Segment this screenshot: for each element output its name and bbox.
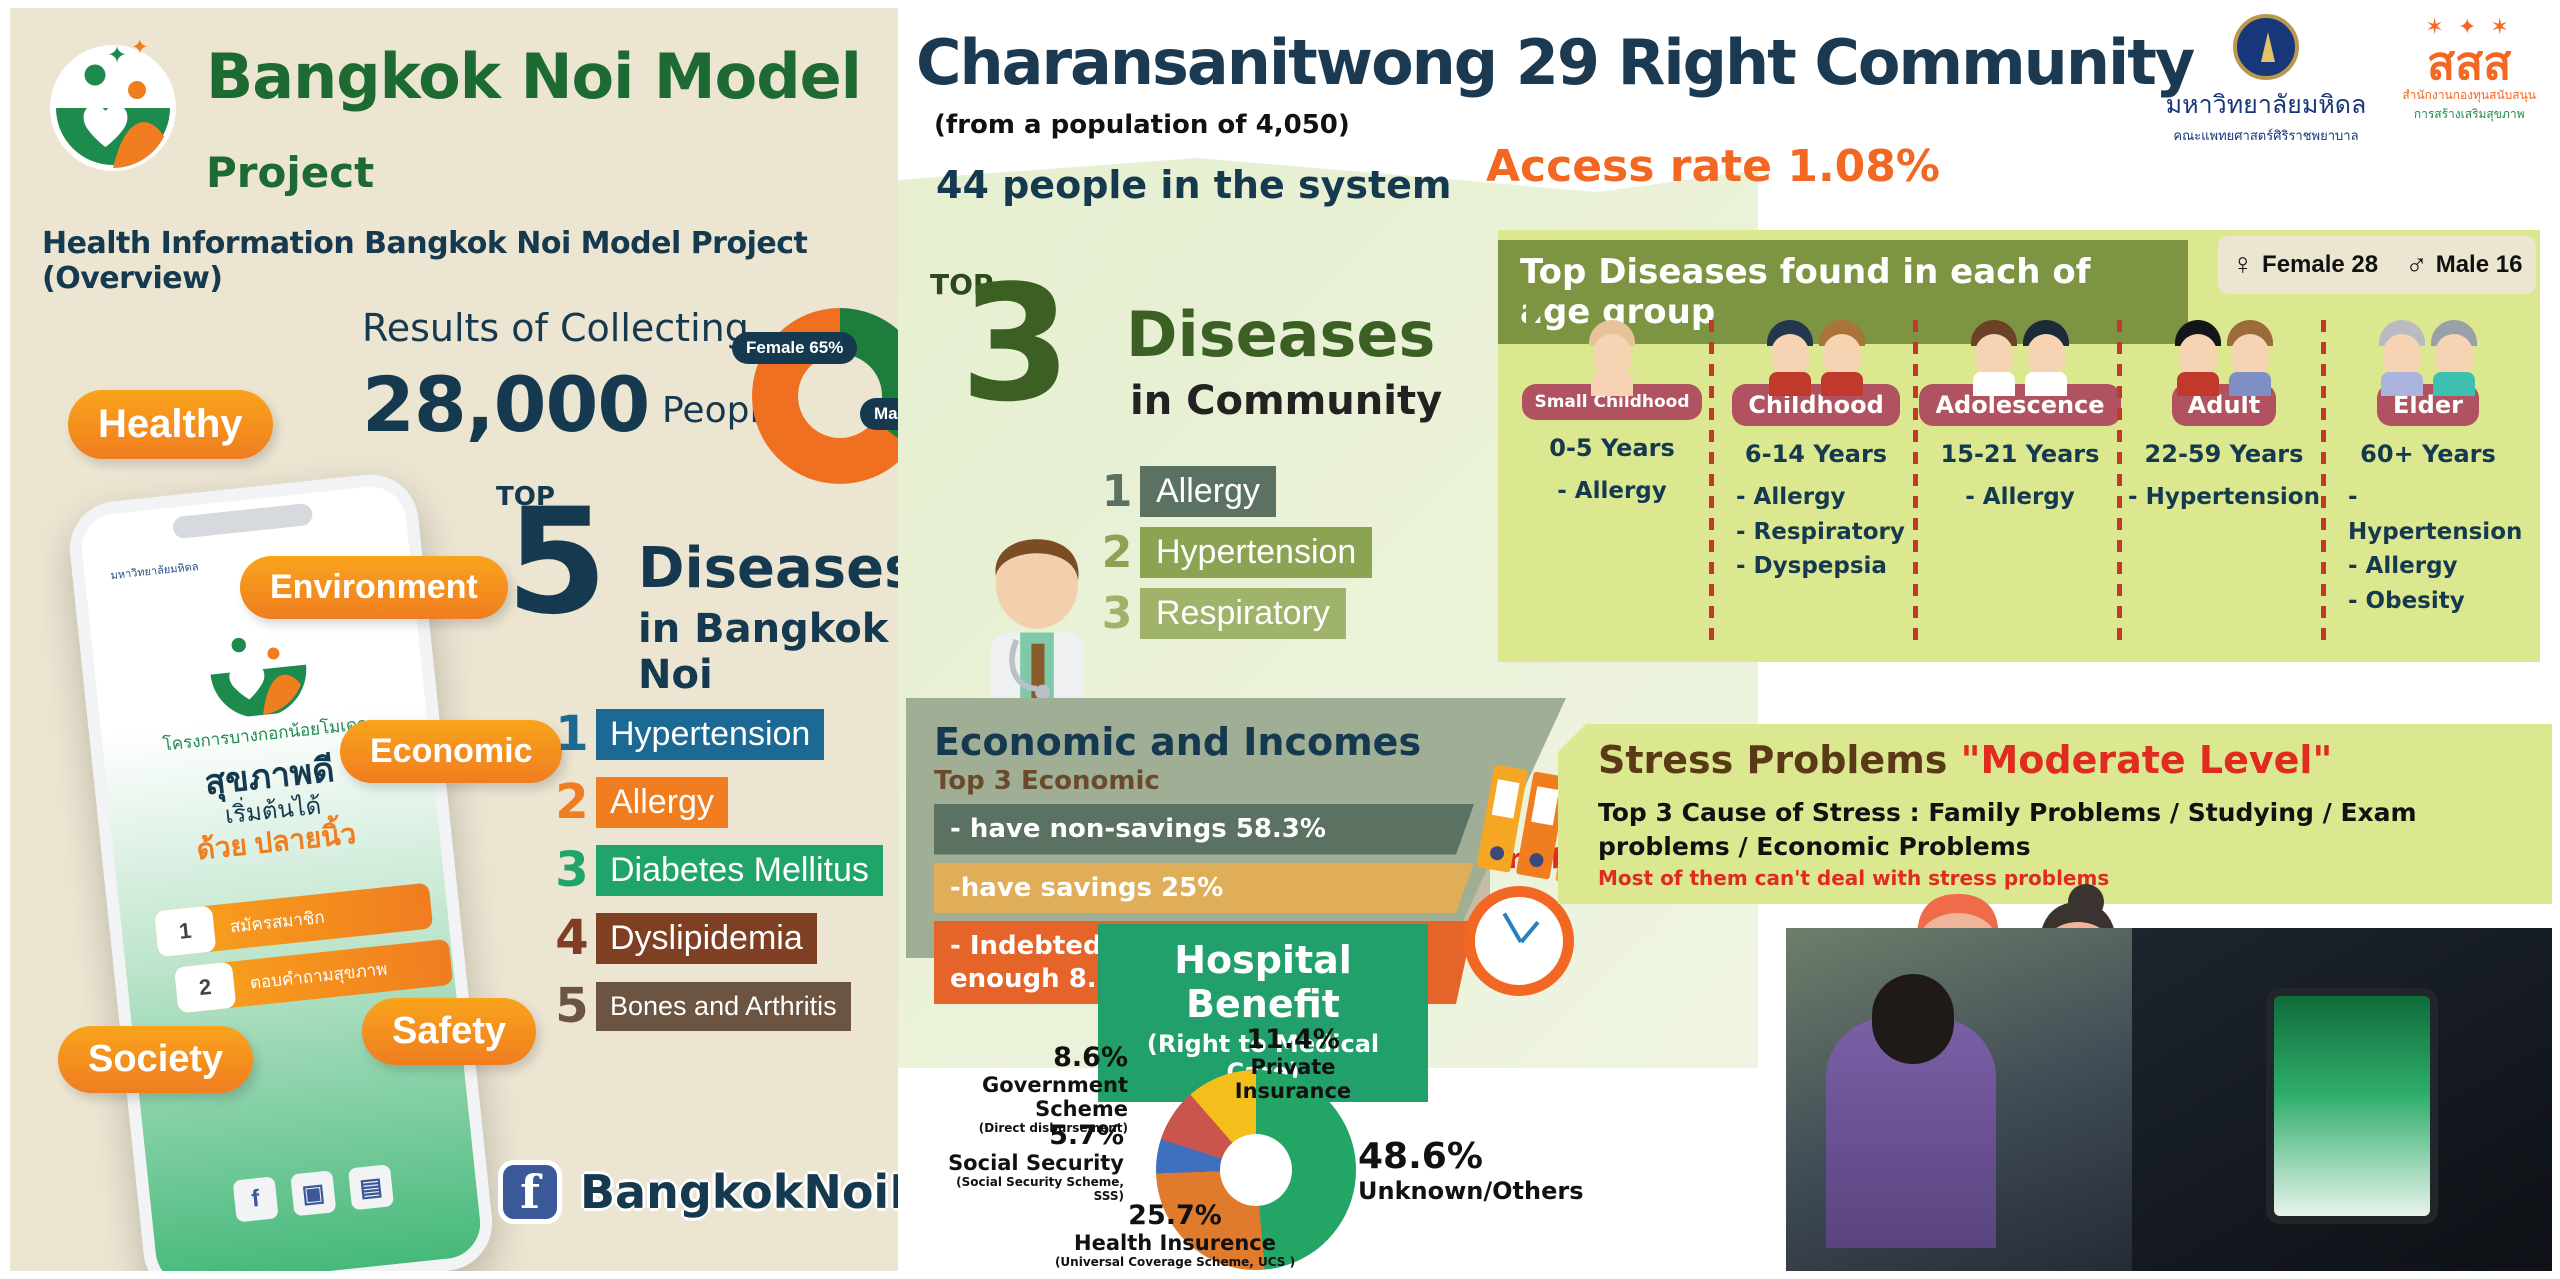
phone-step-2-number: 2 xyxy=(174,962,236,1014)
age-range-childhood: 6-14 Years xyxy=(1714,440,1918,468)
avatar xyxy=(2023,320,2069,382)
phone-step-1-label: สมัครสมาชิก xyxy=(229,903,326,940)
top3-rank-1: 1 xyxy=(1094,466,1140,517)
thaihealth-line1: สำนักงานกองทุนสนับสนุน xyxy=(2402,86,2536,105)
economic-title: Economic and Incomes xyxy=(934,720,1421,764)
list-item: 4 Dyslipidemia xyxy=(548,910,898,966)
age-range-elder: 60+ Years xyxy=(2326,440,2530,468)
avatar-group-adolescence xyxy=(1918,306,2122,382)
pie-pct-unknown-others: 48.6% xyxy=(1358,1136,1588,1177)
page-title: Charansanitwong 29 Right Community xyxy=(916,26,2193,99)
age-disease-elder-3: - Obesity xyxy=(2348,584,2530,619)
age-range-adolescence: 15-21 Years xyxy=(1918,440,2122,468)
pie-label-unknown-others: 48.6% Unknown/Others xyxy=(1358,1136,1588,1205)
top3-label-2: Hypertension xyxy=(1140,527,1372,578)
male-symbol-icon: ♂ xyxy=(2405,248,2428,282)
stress-body: Top 3 Cause of Stress : Family Problems … xyxy=(1598,796,2538,864)
list-item: 1 Hypertension xyxy=(548,706,898,762)
age-disease-elder-2: - Allergy xyxy=(2348,549,2530,584)
pie-name-unknown-others: Unknown/Others xyxy=(1358,1177,1588,1205)
top5-label-4: Dyslipidemia xyxy=(596,913,817,964)
top3-label-1: Allergy xyxy=(1140,466,1276,517)
partner-logos: มหาวิทยาลัยมหิดล คณะแพทยศาสตร์ศิริราชพยา… xyxy=(2166,14,2536,146)
photo-phone-screen xyxy=(2266,988,2438,1224)
gender-donut-chart: Female 65% Male 35% xyxy=(752,308,898,508)
avatar-group-elder xyxy=(2326,306,2530,382)
age-range-adult: 22-59 Years xyxy=(2122,440,2326,468)
top3-number: 3 xyxy=(960,276,1071,412)
top5-subtitle: in Bangkok Noi xyxy=(638,606,898,698)
economic-bar-2: -have savings 25% xyxy=(934,863,1474,914)
male-count-item: ♂ Male 16 xyxy=(2405,248,2522,282)
pill-healthy[interactable]: Healthy xyxy=(68,390,273,459)
list-item: 3 Diabetes Mellitus xyxy=(548,842,898,898)
mahidol-seal-icon xyxy=(2233,14,2299,80)
population-note: (from a population of 4,050) xyxy=(934,110,1350,140)
phone-thai-line4: ด้วย ปลายนิ้ว xyxy=(195,812,359,872)
pie-pct-social-security: 5.7% xyxy=(934,1120,1124,1151)
pie-note-health-insurence: (Universal Coverage Scheme, UCS ) xyxy=(1050,1255,1300,1269)
avatar-group-small-childhood xyxy=(1510,306,1714,382)
phone-step-2-label: ตอบคำถามสุขภาพ xyxy=(249,955,389,996)
results-number: 28,000 xyxy=(362,360,649,449)
qr-icon[interactable]: ▣ xyxy=(290,1170,336,1216)
age-column-adult: Adult 22-59 Years - Hypertension xyxy=(2122,308,2326,656)
list-item: 5 Bones and Arthritis xyxy=(548,978,898,1034)
age-badge-childhood: Childhood xyxy=(1732,384,1900,426)
gender-counts-badge: ♀ Female 28 ♂ Male 16 xyxy=(2218,236,2536,294)
male-count-label: Male 16 xyxy=(2436,251,2523,279)
photo-phone-in-hand xyxy=(2132,928,2552,1271)
gender-male-label: Male 35% xyxy=(860,398,898,430)
economic-subtitle: Top 3 Economic xyxy=(934,766,1160,796)
pie-label-health-insurence: 25.7% Health Insurence (Universal Covera… xyxy=(1050,1200,1300,1269)
top5-label-5: Bones and Arthritis xyxy=(596,982,851,1031)
phone-step-1-number: 1 xyxy=(154,905,216,957)
top5-number: 5 xyxy=(506,500,608,626)
age-range-small-childhood: 0-5 Years xyxy=(1510,434,1714,462)
economic-bar-1: - have non-savings 58.3% xyxy=(934,804,1474,855)
photo-community-visit xyxy=(1786,928,2132,1271)
left-panel: ✦ ✦ Bangkok Noi Model Project Health Inf… xyxy=(10,8,898,1271)
top5-rank-4: 4 xyxy=(548,910,596,966)
clock-icon xyxy=(1464,886,1574,996)
brand-subtitle: Project xyxy=(206,148,374,197)
age-disease-adult-1: - Hypertension xyxy=(2122,480,2326,515)
avatar xyxy=(2227,320,2273,382)
age-column-childhood: Childhood 6-14 Years - Allergy - Respira… xyxy=(1714,308,1918,656)
age-badge-adolescence: Adolescence xyxy=(1919,384,2120,426)
age-diseases-elder: - Hypertension - Allergy - Obesity xyxy=(2326,480,2530,618)
age-disease-elder-1: - Hypertension xyxy=(2348,480,2530,549)
facebook-icon[interactable]: f xyxy=(498,1160,562,1224)
phone-app-logo-icon xyxy=(189,613,326,722)
infographic-poster: ✦ ✦ Bangkok Noi Model Project Health Inf… xyxy=(0,0,2560,1279)
mahidol-logo: มหาวิทยาลัยมหิดล คณะแพทยศาสตร์ศิริราชพยา… xyxy=(2166,14,2367,146)
top5-diseases-word: Diseases xyxy=(638,536,898,601)
app-icon[interactable]: ▤ xyxy=(348,1164,394,1210)
avatar xyxy=(1971,320,2017,382)
phone-notch xyxy=(172,503,314,540)
female-count-label: Female 28 xyxy=(2262,251,2378,279)
top5-rank-5: 5 xyxy=(548,978,596,1034)
mahidol-faculty: คณะแพทยศาสตร์ศิริราชพยาบาล xyxy=(2166,125,2367,146)
age-diseases-childhood: - Allergy - Respiratory - Dyspepsia xyxy=(1714,480,1918,584)
list-item: 2 Allergy xyxy=(548,774,898,830)
stress-title-highlight: "Moderate Level" xyxy=(1961,738,2333,782)
pie-pct-health-insurence: 25.7% xyxy=(1050,1200,1300,1231)
top5-rank-1: 1 xyxy=(548,706,596,762)
pill-environment[interactable]: Environment xyxy=(240,556,508,619)
brand-title: Bangkok Noi Model xyxy=(206,46,861,108)
age-disease-childhood-2: - Respiratory xyxy=(1736,515,1918,550)
female-count-item: ♀ Female 28 xyxy=(2232,248,2379,282)
avatar-group-childhood xyxy=(1714,306,1918,382)
avatar-group-adult xyxy=(2122,306,2326,382)
top5-disease-list: 1 Hypertension 2 Allergy 3 Diabetes Mell… xyxy=(548,706,898,1046)
avatar xyxy=(2431,320,2477,382)
facebook-page-name: BangkokNoiModel xyxy=(580,1165,898,1219)
bangkok-noi-model-logo-icon: ✦ ✦ xyxy=(38,30,188,180)
brand-tagline: Health Information Bangkok Noi Model Pro… xyxy=(42,226,898,296)
mahidol-name: มหาวิทยาลัยมหิดล xyxy=(2166,85,2367,125)
top3-diseases-word: Diseases xyxy=(1126,298,1435,371)
pie-name-government-scheme: Government Scheme xyxy=(958,1073,1128,1121)
age-column-elder: Elder 60+ Years - Hypertension - Allergy… xyxy=(2326,308,2530,656)
avatar xyxy=(2379,320,2425,382)
pie-pct-private-insurance: 11.4% xyxy=(1198,1024,1388,1055)
pill-safety[interactable]: Safety xyxy=(362,998,536,1065)
facebook-block[interactable]: f BangkokNoiModel xyxy=(498,1160,898,1224)
facebook-icon[interactable]: f xyxy=(233,1176,279,1222)
photo-person-head xyxy=(1872,974,1954,1064)
pie-name-private-insurance: Private Insurance xyxy=(1198,1055,1388,1103)
pie-label-private-insurance: 11.4% Private Insurance xyxy=(1198,1024,1388,1103)
thaihealth-line2: การสร้างเสริมสุขภาพ xyxy=(2402,105,2536,124)
results-label: Results of Collecting xyxy=(362,306,749,350)
avatar xyxy=(1819,320,1865,382)
access-rate: Access rate 1.08% xyxy=(1486,141,1940,192)
list-item: 1 Allergy xyxy=(1094,466,1372,517)
svg-text:✦: ✦ xyxy=(107,42,127,69)
pie-name-social-security: Social Security xyxy=(934,1151,1124,1175)
pill-economic[interactable]: Economic xyxy=(340,720,562,783)
pill-society[interactable]: Society xyxy=(58,1026,253,1093)
age-disease-childhood-1: - Allergy xyxy=(1736,480,1918,515)
stress-title-plain: Stress Problems xyxy=(1598,738,1961,782)
avatar xyxy=(1589,320,1635,382)
pie-name-health-insurence: Health Insurence xyxy=(1050,1231,1300,1255)
age-column-adolescence: Adolescence 15-21 Years - Allergy xyxy=(1918,308,2122,656)
top3-subtitle: in Community xyxy=(1130,378,1442,424)
pie-pct-government-scheme: 8.6% xyxy=(958,1042,1128,1073)
age-disease-adolescence-1: - Allergy xyxy=(1918,480,2122,515)
female-symbol-icon: ♀ xyxy=(2232,248,2255,282)
stress-title: Stress Problems "Moderate Level" xyxy=(1598,738,2332,782)
age-disease-small-childhood-1: - Allergy xyxy=(1510,474,1714,509)
thaihealth-mark: สสส xyxy=(2402,40,2536,86)
age-disease-childhood-3: - Dyspepsia xyxy=(1736,549,1918,584)
avatar xyxy=(1767,320,1813,382)
top5-label-2: Allergy xyxy=(596,777,728,828)
age-column-small-childhood: Small Childhood 0-5 Years - Allergy xyxy=(1510,308,1714,656)
top5-rank-2: 2 xyxy=(548,774,596,830)
phone-mahidol-logo: มหาวิทยาลัยมหิดล xyxy=(110,557,241,583)
phone-social-row: f ▣ ▤ xyxy=(233,1164,395,1222)
top3-label-3: Respiratory xyxy=(1140,588,1346,639)
people-in-system: 44 people in the system xyxy=(936,163,1452,207)
svg-text:✦: ✦ xyxy=(131,36,149,59)
top5-rank-3: 3 xyxy=(548,842,596,898)
pie-note-social-security: (Social Security Scheme, SSS) xyxy=(934,1175,1124,1203)
avatar xyxy=(2175,320,2221,382)
top5-label-3: Diabetes Mellitus xyxy=(596,845,883,896)
age-groups-columns: Small Childhood 0-5 Years - Allergy Chil… xyxy=(1510,308,2530,656)
pie-label-social-security: 5.7% Social Security (Social Security Sc… xyxy=(934,1120,1124,1203)
top5-label-1: Hypertension xyxy=(596,709,824,760)
main-panel: Charansanitwong 29 Right Community (from… xyxy=(898,8,2552,1271)
gender-female-label: Female 65% xyxy=(732,332,857,364)
thaihealth-logo: ✶ ✦ ✶ สสส สำนักงานกองทุนสนับสนุน การสร้า… xyxy=(2402,14,2536,124)
